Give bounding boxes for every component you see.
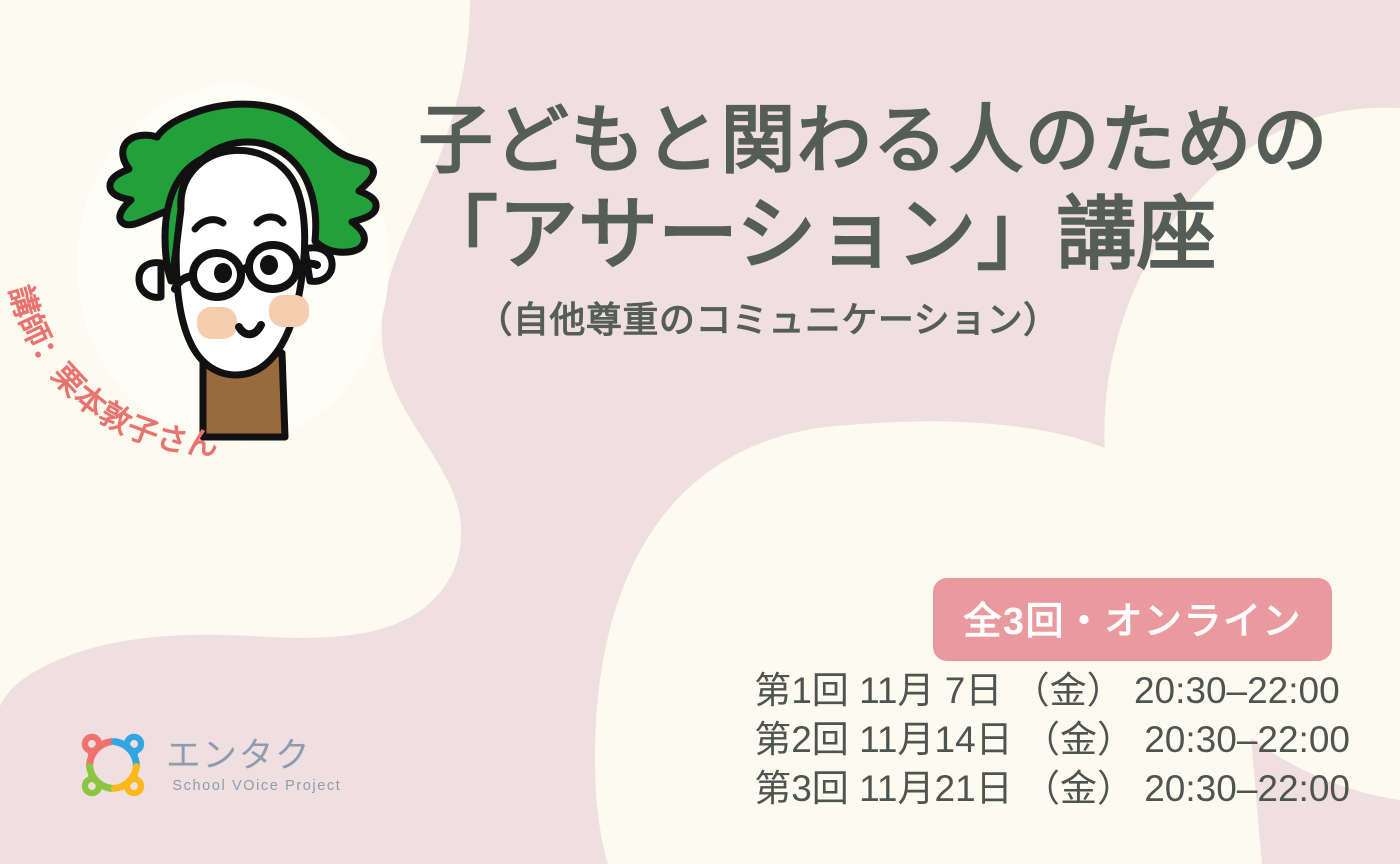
schedule-row: 第3回 11月21日 （金） 20:30–22:00 [754, 764, 1350, 813]
schedule-date: 11月 7日 [859, 670, 1002, 711]
poster-banner: 講師：栗本敦子さん 子どもと関わる人のための 「アサーション」講座 （自他尊重の… [0, 0, 1400, 864]
schedule-time: 20:30–22:00 [1134, 670, 1340, 711]
headline-line-2: 「アサーション」講座 [418, 186, 1368, 284]
instructor-name-label: 講師：栗本敦子さん [2, 282, 219, 462]
schedule-session-number: 第3回 [754, 768, 849, 809]
logo-wordmark-text: エンタク [166, 737, 311, 775]
schedule-time: 20:30–22:00 [1144, 768, 1350, 809]
schedule-row: 第2回 11月14日 （金） 20:30–22:00 [754, 715, 1350, 764]
logo-text-block: エンタク School VOice Project [166, 736, 348, 794]
instructor-illustration: 講師：栗本敦子さん [55, 85, 400, 485]
schedule-day-of-week: （金） [1023, 719, 1134, 760]
schedule-date: 11月21日 [859, 768, 1013, 809]
logo-arc-blue [115, 737, 142, 767]
logo-wordmark-icon: エンタク [166, 736, 348, 776]
schedule-time: 20:30–22:00 [1144, 719, 1350, 760]
logo-arc-red [85, 737, 112, 767]
instructor-name-curved-text: 講師：栗本敦子さん [0, 255, 413, 555]
logo-tagline: School VOice Project [172, 778, 341, 794]
session-format-badge: 全3回・オンライン [933, 578, 1332, 661]
headline-subtitle: （自他尊重のコミュニケーション） [418, 291, 1368, 343]
schedule-list: 第1回 11月 7日 （金） 20:30–22:00 第2回 11月14日 （金… [754, 666, 1350, 814]
schedule-row: 第1回 11月 7日 （金） 20:30–22:00 [754, 666, 1350, 715]
schedule-day-of-week: （金） [1013, 670, 1124, 711]
schedule-day-of-week: （金） [1023, 768, 1134, 809]
headline-line-1: 子どもと関わる人のための [418, 94, 1368, 186]
schedule-session-number: 第2回 [754, 719, 849, 760]
schedule-session-number: 第1回 [754, 670, 849, 711]
round-table-logo-icon [74, 726, 152, 804]
logo-arc-green [85, 767, 112, 794]
headline-block: 子どもと関わる人のための 「アサーション」講座 （自他尊重のコミュニケーション） [418, 94, 1368, 343]
schedule-date: 11月14日 [859, 719, 1013, 760]
entaku-logo: エンタク School VOice Project [74, 726, 348, 804]
logo-arc-yellow [115, 767, 142, 794]
